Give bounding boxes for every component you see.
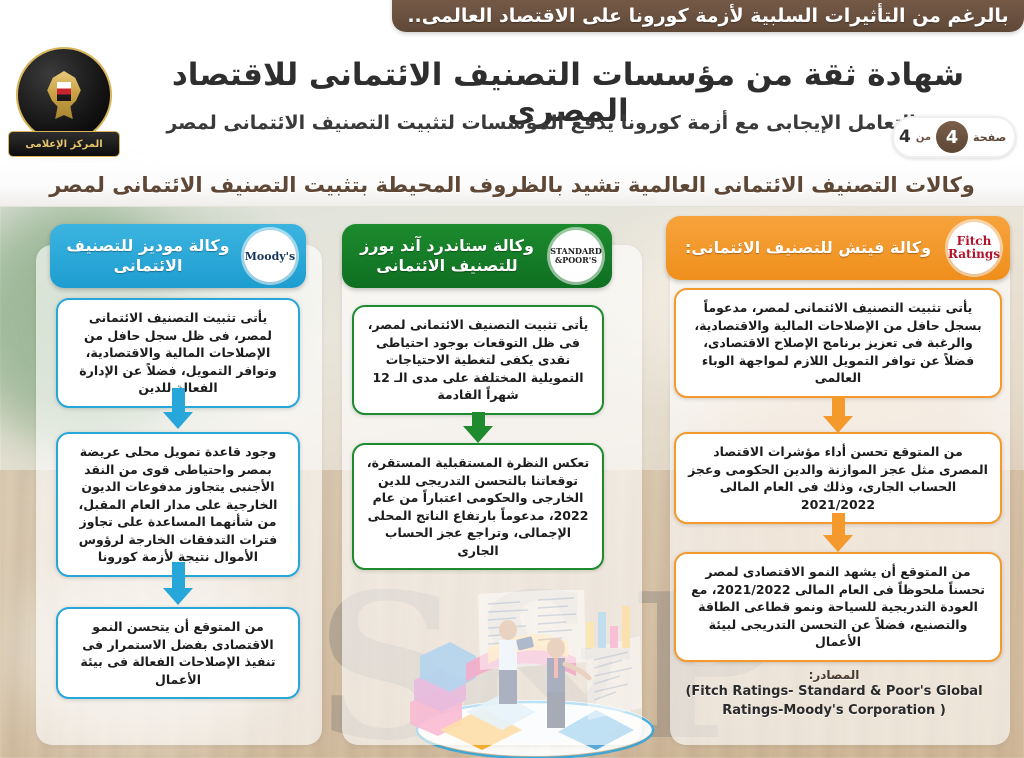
agency-header-fitch: Fitch Ratings وكالة فيتش للتصنيف الائتما… xyxy=(666,216,1010,280)
page-indicator: صفحة 4 من 4 xyxy=(892,116,1016,158)
logo-ring xyxy=(16,47,112,143)
fitch-card-2: من المتوقع تحسن أداء مؤشرات الاقتصاد الم… xyxy=(674,432,1002,524)
section-header-bar: وكالات التصنيف الائتمانى العالمية تشيد ب… xyxy=(0,163,1024,207)
sources-value: (Fitch Ratings- Standard & Poor's Global… xyxy=(674,682,994,720)
agency-header-moodys: Moody's وكالة موديز للتصنيف الائتمانى xyxy=(50,224,306,288)
page-total: 4 xyxy=(899,127,911,147)
sp-card-1: يأتى تثبيت التصنيف الائتمانى لمصر، فى ظل… xyxy=(352,305,604,415)
fitch-card-1: يأتى تثبيت التصنيف الائتمانى لمصر، مدعوم… xyxy=(674,288,1002,398)
infographic-page: S&P xyxy=(0,0,1024,758)
sp-card-2: تعكس النظرة المستقبلية المستقرة، توقعاتن… xyxy=(352,443,604,570)
section-header-text: وكالات التصنيف الائتمانى العالمية تشيد ب… xyxy=(49,173,975,197)
moodys-card-2: وجود قاعدة تمويل محلى عريضة بمصر واحتياط… xyxy=(56,432,300,577)
arrow-down-icon-moodys-1 xyxy=(163,388,193,429)
logo-banner: المركز الإعلامى xyxy=(8,131,120,157)
fitch-ratings-logo-icon: Fitch Ratings xyxy=(948,222,1000,274)
moodys-card-3: من المتوقع أن يتحسن النمو الاقتصادى بفضل… xyxy=(56,607,300,699)
agency-title-standard-and-poors: وكالة ستاندرد آند بورز للتصنيف الائتمانى xyxy=(352,236,542,276)
page-of: من xyxy=(916,132,931,143)
page-label: صفحة xyxy=(973,131,1006,144)
sources-block: المصادر: (Fitch Ratings- Standard & Poor… xyxy=(674,668,994,720)
top-banner: بالرغم من التأثيرات السلبية لأزمة كورونا… xyxy=(392,0,1024,32)
cabinet-media-center-logo: المركز الإعلامى xyxy=(8,45,120,163)
logo-banner-text: المركز الإعلامى xyxy=(25,139,102,150)
page-subtitle: التعامل الإيجابى مع أزمة كورونا يدفع الم… xyxy=(146,112,936,134)
arrow-down-icon-fitch-1 xyxy=(823,396,853,433)
agency-header-standard-and-poors: STANDARD &POOR'S وكالة ستاندرد آند بورز … xyxy=(342,224,612,288)
agency-title-fitch: وكالة فيتش للتصنيف الائتمانى: xyxy=(676,238,940,258)
moodys-logo-icon: Moody's xyxy=(244,230,296,282)
top-banner-text: بالرغم من التأثيرات السلبية لأزمة كورونا… xyxy=(407,5,1008,27)
arrow-down-icon-moodys-2 xyxy=(163,562,193,605)
page-current: 4 xyxy=(936,121,968,153)
standard-and-poors-logo-icon: STANDARD &POOR'S xyxy=(550,230,602,282)
arrow-down-icon-sp-1 xyxy=(463,412,493,443)
sources-label: المصادر: xyxy=(674,668,994,682)
arrow-down-icon-fitch-2 xyxy=(823,513,853,552)
fitch-card-3: من المتوقع أن يشهد النمو الاقتصادى لمصر … xyxy=(674,552,1002,662)
agency-title-moodys: وكالة موديز للتصنيف الائتمانى xyxy=(60,236,236,276)
